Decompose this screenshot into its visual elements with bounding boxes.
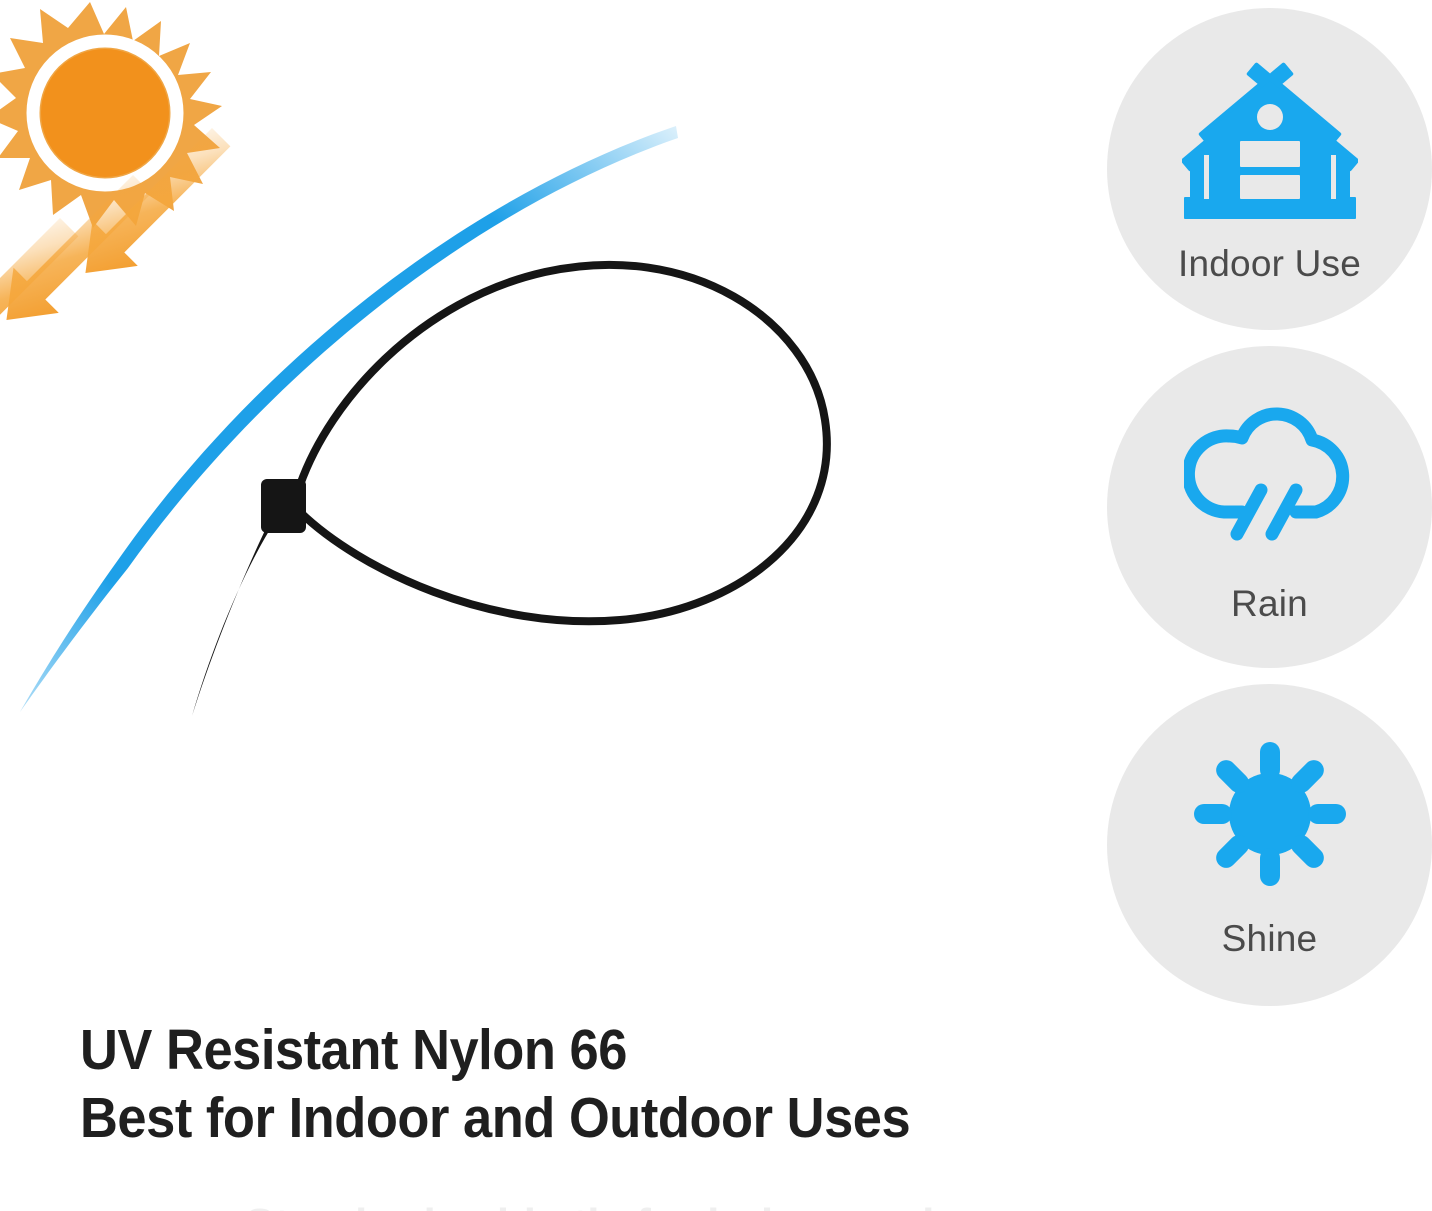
rain-cloud-icon (1180, 395, 1360, 555)
cable-tie-tail (192, 516, 276, 716)
headline-line-2: Best for Indoor and Outdoor Uses (80, 1084, 1000, 1152)
feature-label-shine: Shine (1222, 920, 1318, 957)
uv-resistance-illustration (0, 0, 1000, 780)
black-cable-tie (192, 265, 827, 716)
clipped-caption: Standard cable tie for indoor and outdoo… (245, 1203, 1005, 1211)
headline-block: UV Resistant Nylon 66 Best for Indoor an… (80, 1016, 1080, 1152)
clipped-caption-text: Standard cable tie for indoor and outdoo… (245, 1203, 1005, 1211)
feature-badge-shine[interactable]: Shine (1107, 684, 1432, 1006)
headline-line-1: UV Resistant Nylon 66 (80, 1016, 1000, 1084)
product-infographic: Indoor Use Rain (0, 0, 1432, 1211)
sun-burst-icon (0, 2, 222, 228)
feature-label-indoor-use: Indoor Use (1178, 245, 1361, 282)
cable-tie-loop (300, 265, 827, 621)
sun-core (41, 49, 169, 177)
feature-label-rain: Rain (1231, 585, 1308, 622)
feature-badge-rain[interactable]: Rain (1107, 346, 1432, 668)
sun-shine-icon (1180, 734, 1360, 894)
cable-tie-head (261, 479, 306, 533)
house-icon (1180, 63, 1360, 223)
feature-badge-indoor-use[interactable]: Indoor Use (1107, 8, 1432, 330)
feature-badge-column: Indoor Use Rain (1107, 8, 1432, 1006)
